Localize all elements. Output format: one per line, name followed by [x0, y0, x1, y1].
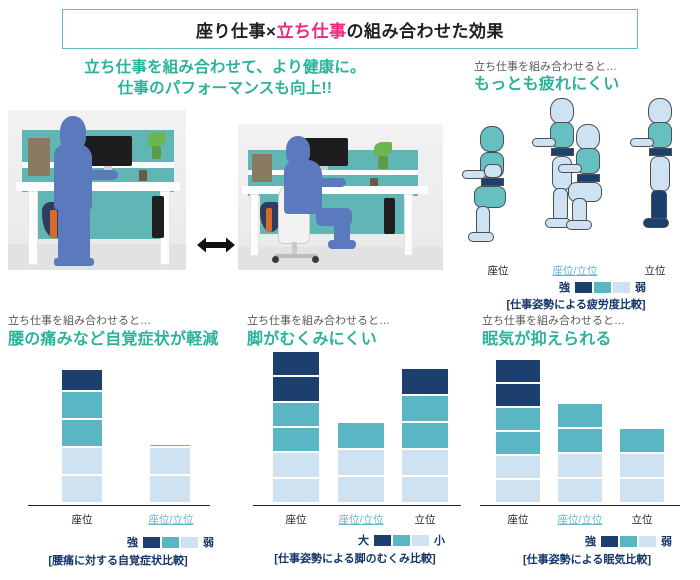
bar-segment — [273, 377, 319, 402]
bar-segment — [558, 404, 602, 429]
person-torso-sitting — [284, 160, 322, 214]
chart2-plot — [239, 352, 471, 504]
mannequin-head — [480, 126, 504, 152]
mannequin-row — [452, 98, 700, 273]
bar-segment — [496, 432, 540, 456]
page-title: 座り仕事×立ち仕事の組み合わせた効果 — [196, 17, 504, 42]
person-arm-sitting — [316, 178, 346, 187]
mannequin-thigh — [650, 156, 670, 192]
fatigue-caption: [仕事姿勢による疲労度比較] — [452, 296, 700, 312]
chart2-axis-label-standing: 立位 — [395, 512, 455, 527]
mannequin-standing — [628, 98, 688, 244]
chart2-bar-sitting — [273, 352, 319, 504]
chair-wheel — [272, 256, 279, 263]
desk-file-box — [252, 154, 272, 182]
legend-swatch-teal — [594, 282, 611, 293]
bar-segment — [558, 429, 602, 454]
chart2-bar-sit-stand — [338, 352, 384, 504]
chart-sleepiness: 立ち仕事を組み合わせると… 眠気が抑えられる 座位 座位/立位 立位 強 — [474, 312, 700, 580]
chart2-legend: 大 小 — [355, 532, 448, 548]
chart3-plot — [474, 360, 700, 504]
hero-section: 立ち仕事を組み合わせて、より健康に。 仕事のパフォーマンスも向上!! — [0, 58, 450, 308]
chart1-bar-sit-stand — [150, 370, 190, 504]
bar-segment — [338, 450, 384, 477]
hero-headline: 立ち仕事を組み合わせて、より健康に。 仕事のパフォーマンスも向上!! — [0, 58, 450, 99]
chart1-axis-label-sit-stand: 座位/立位 — [128, 512, 214, 527]
chart3-title: 眠気が抑えられる — [482, 330, 612, 350]
bar-segment — [620, 454, 664, 479]
bar-segment — [496, 384, 540, 408]
bar-segment — [62, 370, 102, 392]
chart2-lead: 立ち仕事を組み合わせると… — [247, 314, 390, 328]
fatigue-lead: 立ち仕事を組み合わせると… — [474, 60, 617, 74]
chart3-legend: 強 弱 — [582, 533, 675, 549]
desk-file-box — [28, 138, 50, 176]
axis-label-sit-stand: 座位/立位 — [530, 263, 620, 278]
legend-low-label: 弱 — [661, 533, 672, 549]
bar-segment — [496, 360, 540, 384]
chart1-caption: [腰痛に対する自覚症状比較] — [0, 552, 236, 568]
chart1-bar-sitting — [62, 370, 102, 504]
pc-tower — [384, 198, 395, 234]
chart3-axis-label-sit-stand: 座位/立位 — [537, 512, 623, 527]
legend-low-label: 弱 — [635, 279, 646, 295]
chart3-bar-sit-stand — [558, 360, 602, 504]
bar-segment — [402, 369, 448, 396]
desk-top — [16, 182, 180, 191]
desk-leg-left — [28, 191, 38, 265]
mannequin-thigh — [474, 186, 506, 208]
axis-label-standing: 立位 — [624, 263, 686, 278]
bar-segment — [558, 454, 602, 479]
hero-headline-line1: 立ち仕事を組み合わせて、より健康に。 — [84, 59, 366, 76]
chart3-caption: [仕事姿勢による眠気比較] — [474, 551, 700, 567]
bar-segment — [273, 403, 319, 428]
desk-top — [242, 186, 428, 194]
legend-swatch-light — [613, 282, 630, 293]
plant-leaf — [374, 142, 392, 156]
chart-leg-swelling: 立ち仕事を組み合わせると… 脚がむくみにくい 座位 座位/立位 立位 大 — [239, 312, 471, 580]
person-arm-standing — [86, 170, 118, 180]
plant-pot — [152, 146, 161, 159]
desk-shelf — [248, 170, 418, 175]
chart1-title: 腰の痛みなど自覚症状が軽減 — [8, 330, 219, 350]
desk-leg-right — [404, 194, 413, 256]
mannequin-head-sitting — [576, 124, 600, 150]
double-arrow-icon — [196, 236, 236, 254]
legend-swatch-teal — [162, 537, 179, 548]
bar-segment — [496, 408, 540, 432]
bar-segment — [62, 448, 102, 476]
desk-leg-left — [250, 194, 259, 256]
bar-segment — [402, 450, 448, 477]
chair-wheel — [312, 256, 319, 263]
chart3-bar-sitting — [496, 360, 540, 504]
bar-segment — [402, 477, 448, 504]
mannequin-forearm-sitting — [558, 164, 582, 173]
chart1-lead: 立ち仕事を組み合わせると… — [8, 314, 151, 328]
mannequin-sit-stand — [534, 98, 618, 244]
mannequin-waist-standing — [551, 148, 574, 156]
person-foot-sitting — [328, 240, 356, 249]
chart-back-pain: 立ち仕事を組み合わせると… 腰の痛みなど自覚症状が軽減 座位 座位/立位 強 弱… — [0, 312, 236, 580]
bar-segment — [496, 456, 540, 480]
mannequin-head — [648, 98, 672, 124]
legend-high-label: 大 — [358, 532, 369, 548]
legend-swatch-navy — [575, 282, 592, 293]
bar-segment — [62, 420, 102, 448]
bar-segment — [558, 479, 602, 504]
hero-headline-line2: 仕事のパフォーマンスも向上!! — [0, 79, 450, 100]
mannequin-foot-sitting — [566, 220, 592, 230]
chart1-plot — [0, 360, 236, 504]
legend-low-label: 小 — [434, 532, 445, 548]
axis-label-sitting: 座位 — [468, 263, 528, 278]
mannequin-waist-sitting — [577, 174, 600, 182]
pc-tower — [152, 196, 164, 238]
page-title-highlight: 立ち仕事 — [276, 22, 346, 41]
page-title-part2: の組み合わせた効果 — [346, 22, 504, 41]
bag-strap — [50, 210, 57, 238]
person-legs-standing — [58, 206, 90, 262]
legend-swatch-light — [639, 536, 656, 547]
legend-high-label: 強 — [559, 279, 570, 295]
person-feet-standing — [54, 258, 94, 266]
bag-strap — [266, 208, 272, 232]
bar-segment — [620, 429, 664, 454]
plant-leaf — [148, 132, 166, 146]
photo-standing-desk — [8, 110, 186, 270]
plant-pot — [378, 156, 388, 169]
bar-segment — [273, 428, 319, 453]
mannequin-foot — [643, 218, 669, 228]
bar-segment — [620, 479, 664, 504]
legend-swatch-light — [181, 537, 198, 548]
chart3-baseline — [480, 505, 680, 507]
chart1-baseline — [28, 505, 210, 507]
coffee-cup — [139, 170, 147, 181]
legend-swatch-navy — [143, 537, 160, 548]
chart3-bar-standing — [620, 360, 664, 504]
legend-swatch-teal — [620, 536, 637, 547]
photo-sitting-desk — [238, 124, 443, 270]
legend-high-label: 強 — [585, 533, 596, 549]
chart2-caption: [仕事姿勢による脚のむくみ比較] — [239, 550, 471, 566]
chart2-bar-standing — [402, 352, 448, 504]
bar-segment — [402, 423, 448, 450]
chart2-axis-label-sit-stand: 座位/立位 — [318, 512, 404, 527]
legend-swatch-teal — [393, 535, 410, 546]
bar-segment — [338, 477, 384, 504]
bar-segment — [273, 352, 319, 377]
page-title-box: 座り仕事×立ち仕事の組み合わせた効果 — [62, 9, 638, 49]
chart2-axis-label-sitting: 座位 — [266, 512, 326, 527]
bar-segment — [62, 392, 102, 420]
mannequin-foot — [468, 232, 494, 242]
legend-swatch-navy — [601, 536, 618, 547]
mannequin-shin-standing — [553, 188, 568, 222]
fatigue-headline: もっとも疲れにくい — [474, 75, 619, 95]
legend-swatch-navy — [374, 535, 391, 546]
bar-segment — [273, 479, 319, 504]
bar-segment — [338, 423, 384, 450]
fatigue-legend: 強 弱 — [556, 279, 649, 295]
chart3-axis-label-standing: 立位 — [612, 512, 672, 527]
mannequin-forearm — [630, 138, 654, 147]
mannequin-sitting — [460, 126, 526, 244]
bar-segment — [150, 476, 190, 504]
bar-segment — [62, 476, 102, 504]
legend-high-label: 強 — [127, 534, 138, 550]
legend-low-label: 弱 — [203, 534, 214, 550]
chart1-axis-label-sitting: 座位 — [52, 512, 112, 527]
mannequin-waist — [649, 148, 672, 156]
mannequin-head-standing — [550, 98, 574, 124]
mannequin-forearm-standing — [532, 138, 556, 147]
chart2-title: 脚がむくみにくい — [247, 330, 377, 350]
bar-segment — [150, 448, 190, 476]
bar-segment — [273, 453, 319, 478]
chart2-baseline — [253, 505, 461, 507]
page-title-part1: 座り仕事× — [196, 22, 276, 41]
mannequin-waist — [481, 178, 504, 186]
chart1-legend: 強 弱 — [124, 534, 217, 550]
legend-swatch-light — [412, 535, 429, 546]
bar-segment — [402, 396, 448, 423]
fatigue-panel: 立ち仕事を組み合わせると… もっとも疲れにくい — [452, 58, 700, 308]
mannequin-upper-arm — [484, 164, 502, 178]
bar-segment — [496, 480, 540, 504]
chart3-lead: 立ち仕事を組み合わせると… — [482, 314, 625, 328]
